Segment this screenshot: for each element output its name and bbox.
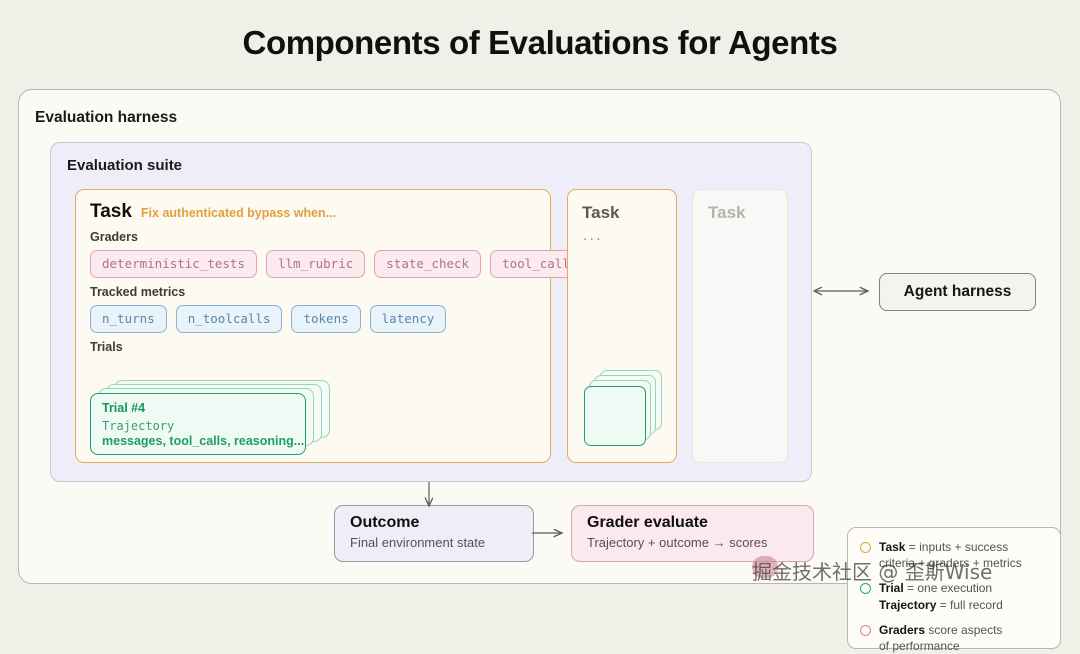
trial-card-stack-mini[interactable] xyxy=(584,370,662,446)
page-title: Components of Evaluations for Agents xyxy=(0,0,1080,62)
trial-card-front[interactable]: Trial #4 Trajectory messages, tool_calls… xyxy=(90,393,306,455)
outcome-box[interactable]: Outcome Final environment state xyxy=(334,505,534,562)
graders-section-label: Graders xyxy=(76,230,550,244)
legend-box: Task = inputs + success criteria + grade… xyxy=(847,527,1061,649)
grader-evaluate-box[interactable]: Grader evaluate Trajectory + outcome → s… xyxy=(571,505,814,562)
trial-card-stack[interactable]: Trial #4 Trajectory messages, tool_calls… xyxy=(90,380,314,442)
task-title: Task xyxy=(90,201,132,223)
agent-harness-label: Agent harness xyxy=(904,283,1012,301)
task-card-ghost[interactable]: Task xyxy=(692,189,788,463)
task-description: Fix authenticated bypass when... xyxy=(141,206,336,220)
graders-dot-icon xyxy=(860,625,871,636)
task-card-secondary[interactable]: Task ... xyxy=(567,189,677,463)
evaluation-harness-container: Evaluation harness Evaluation suite Task… xyxy=(18,89,1061,584)
evaluation-suite-label: Evaluation suite xyxy=(67,157,182,174)
task-title: Task xyxy=(568,190,676,223)
grader-subtitle: Trajectory + outcome → scores xyxy=(587,535,813,550)
metric-chip[interactable]: tokens xyxy=(291,305,360,333)
legend-text-graders: Graders score aspects of performance xyxy=(879,622,1002,654)
grader-chip[interactable]: llm_rubric xyxy=(266,250,365,278)
legend-term: Trajectory xyxy=(879,598,936,612)
trial-dot-icon xyxy=(860,583,871,594)
metrics-section-label: Tracked metrics xyxy=(76,285,550,299)
task-title: Task xyxy=(693,190,787,223)
graders-chip-row: deterministic_tests llm_rubric state_che… xyxy=(76,250,550,278)
grader-chip[interactable]: state_check xyxy=(374,250,481,278)
grader-chip[interactable]: deterministic_tests xyxy=(90,250,257,278)
agent-harness-box[interactable]: Agent harness xyxy=(879,273,1036,311)
legend-term: Task xyxy=(879,540,905,554)
watermark-text: 掘金技术社区 @ 歪斯Wise xyxy=(752,556,992,585)
metric-chip[interactable]: latency xyxy=(370,305,447,333)
metrics-chip-row: n_turns n_toolcalls tokens latency xyxy=(76,305,550,333)
metric-chip[interactable]: n_toolcalls xyxy=(176,305,283,333)
trial-title: Trial #4 xyxy=(102,401,305,415)
evaluation-harness-label: Evaluation harness xyxy=(35,109,177,127)
evaluation-suite-container: Evaluation suite Task Fix authenticated … xyxy=(50,142,812,482)
task-card-main[interactable]: Task Fix authenticated bypass when... Gr… xyxy=(75,189,551,463)
trajectory-items: messages, tool_calls, reasoning... xyxy=(102,434,305,448)
task-dot-icon xyxy=(860,542,871,553)
metric-chip[interactable]: n_turns xyxy=(90,305,167,333)
legend-item-graders: Graders score aspects of performance xyxy=(860,622,1048,654)
trials-section-label: Trials xyxy=(76,340,550,354)
task-ellipsis: ... xyxy=(568,223,676,244)
outcome-subtitle: Final environment state xyxy=(350,535,533,550)
outcome-title: Outcome xyxy=(350,514,533,532)
trial-card-front[interactable] xyxy=(584,386,646,446)
grader-title: Grader evaluate xyxy=(587,514,813,532)
trials-area: Trial #4 Trajectory messages, tool_calls… xyxy=(76,362,550,458)
trajectory-label: Trajectory xyxy=(102,419,305,433)
legend-term: Graders xyxy=(879,623,925,637)
task-header: Task Fix authenticated bypass when... xyxy=(76,190,550,223)
